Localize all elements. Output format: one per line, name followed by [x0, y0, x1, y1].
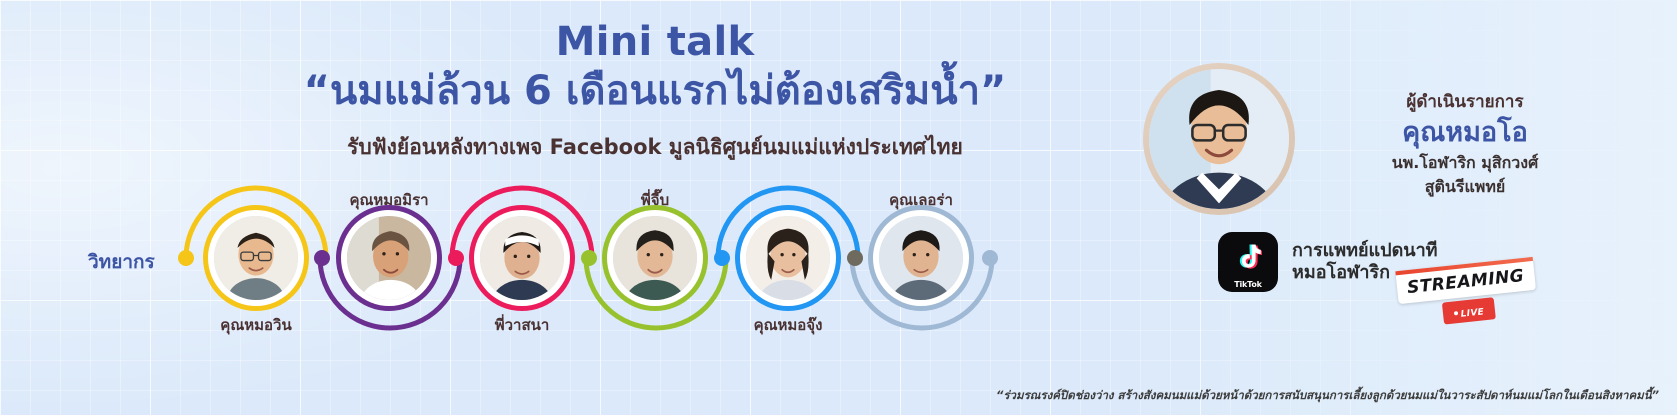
speaker-avatar-4[interactable] [607, 210, 703, 306]
subtitle: รับฟังย้อนหลังทางเพจ Facebook มูลนิธิศูน… [240, 131, 1070, 164]
host-specialty: สูตินรีแพทย์ [1300, 177, 1630, 198]
tiktok-note-glyph [1234, 243, 1262, 275]
live-dot-icon [1453, 311, 1457, 315]
host-name: คุณหมอโอ [1300, 115, 1630, 150]
live-pill: LIVE [1442, 297, 1496, 324]
avatar [879, 216, 963, 300]
tiktok-wordmark: TikTok [1234, 280, 1262, 289]
host-photo [1149, 69, 1289, 209]
title-quote: “นมแม่ล้วน 6 เดือนแรกไม่ต้องเสริมน้ำ” [240, 65, 1070, 117]
channel-name-line1: การแพทย์แปดนาที [1292, 240, 1438, 262]
headline-block: Mini talk “นมแม่ล้วน 6 เดือนแรกไม่ต้องเส… [240, 20, 1070, 164]
portrait-illustration [613, 216, 697, 300]
tiktok-icon[interactable]: TikTok [1218, 232, 1278, 292]
avatar [347, 216, 431, 300]
portrait-illustration [746, 216, 830, 300]
speakers-role-label: วิทยากร [88, 247, 155, 277]
avatar [613, 216, 697, 300]
speaker-avatar-2[interactable] [341, 210, 437, 306]
page-title: Mini talk [240, 20, 1070, 65]
speaker-avatar-5[interactable] [740, 210, 836, 306]
footer-caption: “ร่วมรณรงค์ปิดช่องว่าง สร้างสังคมนมแม่ด้… [996, 387, 1659, 405]
host-info-block: ผู้ดำเนินรายการ คุณหมอโอ นพ.โอฬาริก มุสิ… [1300, 92, 1630, 198]
speaker-avatar-1[interactable] [208, 210, 304, 306]
host-full-name: นพ.โอฬาริก มุสิกวงศ์ [1300, 153, 1630, 174]
webinar-promo-banner: Mini talk “นมแม่ล้วน 6 เดือนแรกไม่ต้องเส… [0, 0, 1677, 415]
host-role-label: ผู้ดำเนินรายการ [1300, 92, 1630, 113]
portrait-illustration [480, 216, 564, 300]
portrait-illustration [214, 216, 298, 300]
avatar [214, 216, 298, 300]
live-label: LIVE [1460, 307, 1484, 319]
host-photo-frame[interactable] [1143, 63, 1295, 215]
portrait-illustration [879, 216, 963, 300]
host-portrait-illustration [1149, 69, 1289, 209]
speaker-avatar-6[interactable] [873, 210, 969, 306]
avatar [746, 216, 830, 300]
streaming-label: STREAMING [1406, 266, 1525, 298]
speaker-avatar-3[interactable] [474, 210, 570, 306]
portrait-illustration [347, 216, 431, 300]
avatar [480, 216, 564, 300]
